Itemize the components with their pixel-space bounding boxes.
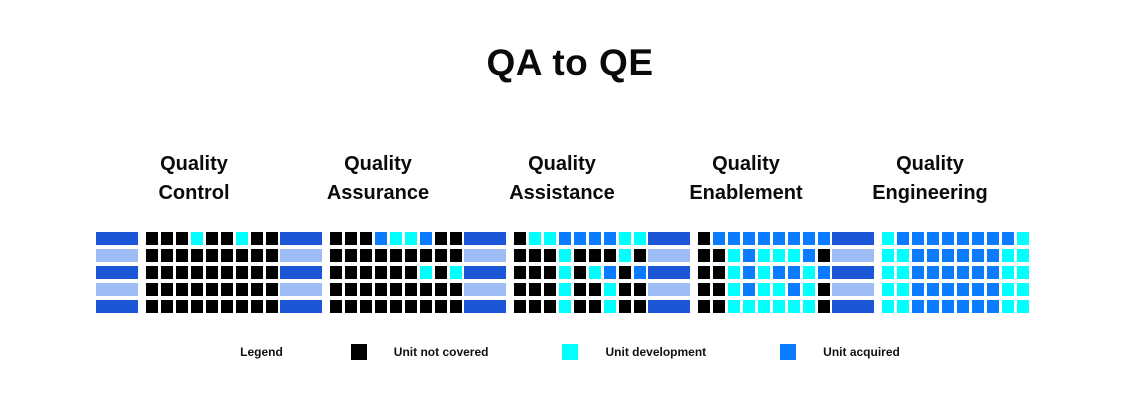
- unit-cell-black: [405, 249, 417, 262]
- unit-cell-blue: [574, 232, 586, 245]
- unit-grid: [832, 232, 1029, 313]
- unit-cell-blue: [912, 300, 924, 313]
- unit-cell-cyan: [1002, 266, 1014, 279]
- unit-cell-blue: [957, 266, 969, 279]
- unit-cell-black: [713, 249, 725, 262]
- unit-cell-cyan: [405, 232, 417, 245]
- row-label-bar: [832, 266, 874, 279]
- unit-cell-cyan: [882, 232, 894, 245]
- unit-cell-cyan: [559, 266, 571, 279]
- unit-cell-blue: [420, 232, 432, 245]
- unit-cell-blue: [972, 249, 984, 262]
- unit-cell-black: [390, 283, 402, 296]
- unit-cell-cyan: [604, 283, 616, 296]
- unit-cell-black: [330, 283, 342, 296]
- unit-cell-black: [450, 249, 462, 262]
- unit-cell-black: [574, 266, 586, 279]
- unit-cell-black: [191, 249, 203, 262]
- unit-cell-black: [206, 283, 218, 296]
- column-title: Quality Control: [158, 150, 229, 212]
- row-label-bar: [280, 249, 322, 262]
- unit-grid-row: [96, 232, 293, 245]
- unit-cell-black: [574, 249, 586, 262]
- unit-grid-row: [832, 266, 1029, 279]
- unit-grid-row: [464, 300, 661, 313]
- unit-cell-cyan: [390, 232, 402, 245]
- unit-cell-cyan: [758, 283, 770, 296]
- unit-cell-black: [251, 249, 263, 262]
- row-label-bar: [648, 266, 690, 279]
- unit-cell-blue: [743, 232, 755, 245]
- legend-swatch-cyan: [562, 344, 578, 360]
- unit-cell-black: [435, 300, 447, 313]
- unit-cell-blue: [773, 266, 785, 279]
- unit-cell-cyan: [773, 283, 785, 296]
- unit-grid-row: [96, 266, 293, 279]
- row-label-bar: [96, 249, 138, 262]
- unit-cell-cyan: [882, 300, 894, 313]
- maturity-column: Quality Assurance: [292, 150, 464, 313]
- unit-cell-black: [330, 249, 342, 262]
- unit-cell-blue: [589, 232, 601, 245]
- unit-cell-black: [221, 283, 233, 296]
- unit-cell-blue: [559, 232, 571, 245]
- page-title: QA to QE: [0, 42, 1140, 84]
- legend-items: Unit not coveredUnit developmentUnit acq…: [351, 344, 900, 360]
- row-label-bar: [96, 300, 138, 313]
- unit-cell-black: [544, 266, 556, 279]
- row-label-bar: [96, 232, 138, 245]
- row-label-bar: [648, 300, 690, 313]
- unit-cell-black: [713, 283, 725, 296]
- unit-cell-cyan: [728, 266, 740, 279]
- unit-cell-cyan: [559, 249, 571, 262]
- unit-cell-cyan: [897, 283, 909, 296]
- unit-cell-black: [450, 283, 462, 296]
- unit-cell-blue: [957, 249, 969, 262]
- unit-cell-black: [266, 283, 278, 296]
- unit-cell-black: [435, 249, 447, 262]
- unit-cell-black: [390, 266, 402, 279]
- unit-cell-blue: [927, 300, 939, 313]
- unit-cell-black: [161, 249, 173, 262]
- unit-cell-cyan: [803, 266, 815, 279]
- unit-cell-black: [698, 300, 710, 313]
- unit-cell-black: [529, 300, 541, 313]
- unit-cell-black: [574, 283, 586, 296]
- unit-cell-cyan: [589, 266, 601, 279]
- unit-cell-black: [405, 300, 417, 313]
- unit-cell-black: [713, 300, 725, 313]
- row-label-bar: [648, 249, 690, 262]
- legend: Legend Unit not coveredUnit developmentU…: [0, 344, 1140, 360]
- unit-cell-blue: [987, 232, 999, 245]
- unit-cell-cyan: [1017, 249, 1029, 262]
- unit-cell-black: [529, 266, 541, 279]
- unit-cell-black: [514, 266, 526, 279]
- unit-cell-cyan: [420, 266, 432, 279]
- unit-cell-blue: [897, 232, 909, 245]
- unit-cell-black: [146, 232, 158, 245]
- row-label-bar: [648, 232, 690, 245]
- unit-cell-black: [360, 283, 372, 296]
- unit-cell-cyan: [897, 300, 909, 313]
- unit-cell-cyan: [1017, 266, 1029, 279]
- row-label-bar: [464, 300, 506, 313]
- unit-cell-blue: [743, 249, 755, 262]
- unit-cell-blue: [713, 232, 725, 245]
- unit-cell-cyan: [803, 300, 815, 313]
- unit-cell-black: [589, 283, 601, 296]
- unit-cell-black: [206, 266, 218, 279]
- unit-cell-black: [619, 266, 631, 279]
- unit-cell-blue: [788, 266, 800, 279]
- unit-cell-cyan: [236, 232, 248, 245]
- column-title: Quality Enablement: [689, 150, 802, 212]
- unit-cell-black: [360, 249, 372, 262]
- unit-cell-cyan: [897, 249, 909, 262]
- unit-cell-black: [450, 232, 462, 245]
- unit-cell-blue: [987, 266, 999, 279]
- row-label-bar: [464, 232, 506, 245]
- unit-grid-row: [648, 249, 845, 262]
- unit-cell-blue: [728, 232, 740, 245]
- unit-cell-blue: [803, 249, 815, 262]
- unit-grid-row: [280, 266, 477, 279]
- unit-grid-row: [832, 300, 1029, 313]
- row-label-bar: [832, 300, 874, 313]
- row-label-bar: [96, 266, 138, 279]
- legend-swatch-blue: [780, 344, 796, 360]
- unit-cell-cyan: [634, 232, 646, 245]
- unit-cell-black: [146, 266, 158, 279]
- unit-grid-row: [648, 283, 845, 296]
- unit-cell-black: [405, 283, 417, 296]
- unit-cell-black: [206, 300, 218, 313]
- unit-cell-blue: [972, 283, 984, 296]
- unit-cell-black: [713, 266, 725, 279]
- unit-cell-blue: [604, 232, 616, 245]
- unit-grid-row: [648, 300, 845, 313]
- unit-cell-blue: [912, 249, 924, 262]
- unit-cell-black: [698, 283, 710, 296]
- unit-grid-row: [832, 249, 1029, 262]
- unit-cell-cyan: [1017, 283, 1029, 296]
- unit-cell-cyan: [758, 249, 770, 262]
- unit-cell-cyan: [773, 249, 785, 262]
- unit-cell-cyan: [559, 300, 571, 313]
- unit-cell-black: [221, 266, 233, 279]
- unit-cell-blue: [972, 300, 984, 313]
- unit-grid-row: [464, 283, 661, 296]
- column-title: Quality Engineering: [872, 150, 988, 212]
- unit-cell-black: [345, 300, 357, 313]
- unit-cell-black: [236, 300, 248, 313]
- maturity-column: Quality Enablement: [660, 150, 832, 313]
- row-label-bar: [464, 249, 506, 262]
- unit-cell-black: [345, 266, 357, 279]
- unit-cell-black: [435, 283, 447, 296]
- unit-grid-row: [648, 232, 845, 245]
- unit-grid-row: [96, 283, 293, 296]
- unit-cell-black: [390, 300, 402, 313]
- unit-cell-black: [345, 283, 357, 296]
- unit-cell-black: [435, 232, 447, 245]
- unit-cell-black: [375, 300, 387, 313]
- unit-grid-row: [464, 266, 661, 279]
- unit-cell-black: [236, 266, 248, 279]
- unit-cell-black: [375, 249, 387, 262]
- unit-cell-cyan: [619, 232, 631, 245]
- unit-cell-black: [529, 249, 541, 262]
- unit-cell-black: [634, 249, 646, 262]
- unit-grid-row: [832, 283, 1029, 296]
- unit-cell-black: [176, 283, 188, 296]
- unit-cell-black: [360, 266, 372, 279]
- unit-cell-blue: [788, 232, 800, 245]
- unit-cell-black: [206, 249, 218, 262]
- unit-grid-row: [648, 266, 845, 279]
- unit-cell-black: [544, 283, 556, 296]
- unit-cell-cyan: [191, 232, 203, 245]
- maturity-columns: Quality ControlQuality AssuranceQuality …: [108, 150, 1016, 313]
- row-label-bar: [280, 283, 322, 296]
- unit-cell-black: [360, 300, 372, 313]
- unit-cell-black: [405, 266, 417, 279]
- unit-cell-black: [420, 249, 432, 262]
- unit-cell-blue: [788, 283, 800, 296]
- unit-cell-black: [589, 300, 601, 313]
- unit-cell-black: [251, 266, 263, 279]
- unit-cell-blue: [743, 283, 755, 296]
- maturity-column: Quality Engineering: [844, 150, 1016, 313]
- unit-cell-black: [191, 300, 203, 313]
- unit-cell-cyan: [1002, 283, 1014, 296]
- unit-cell-cyan: [544, 232, 556, 245]
- unit-cell-blue: [818, 266, 830, 279]
- unit-grid-row: [96, 300, 293, 313]
- row-label-bar: [280, 300, 322, 313]
- legend-label: Unit development: [605, 345, 706, 359]
- unit-cell-blue: [912, 232, 924, 245]
- unit-grid-row: [96, 249, 293, 262]
- unit-cell-blue: [803, 232, 815, 245]
- unit-cell-black: [251, 283, 263, 296]
- unit-cell-black: [514, 300, 526, 313]
- unit-cell-black: [236, 249, 248, 262]
- row-label-bar: [648, 283, 690, 296]
- unit-cell-cyan: [728, 300, 740, 313]
- unit-cell-black: [266, 266, 278, 279]
- unit-cell-cyan: [728, 249, 740, 262]
- unit-cell-cyan: [803, 283, 815, 296]
- unit-cell-cyan: [882, 249, 894, 262]
- unit-cell-black: [146, 300, 158, 313]
- unit-cell-black: [191, 266, 203, 279]
- unit-cell-black: [251, 232, 263, 245]
- unit-cell-black: [266, 232, 278, 245]
- unit-cell-cyan: [559, 283, 571, 296]
- unit-cell-blue: [927, 232, 939, 245]
- unit-cell-blue: [634, 266, 646, 279]
- legend-swatch-black: [351, 344, 367, 360]
- unit-cell-black: [345, 232, 357, 245]
- unit-cell-blue: [957, 232, 969, 245]
- unit-cell-blue: [927, 283, 939, 296]
- unit-cell-black: [514, 283, 526, 296]
- unit-cell-cyan: [1017, 300, 1029, 313]
- unit-cell-cyan: [882, 283, 894, 296]
- unit-cell-blue: [942, 266, 954, 279]
- unit-cell-black: [146, 249, 158, 262]
- unit-cell-black: [221, 232, 233, 245]
- legend-item: Unit not covered: [351, 344, 489, 360]
- legend-title: Legend: [240, 345, 283, 359]
- unit-cell-blue: [942, 283, 954, 296]
- unit-cell-blue: [758, 232, 770, 245]
- unit-cell-black: [251, 300, 263, 313]
- unit-cell-black: [176, 249, 188, 262]
- maturity-heatmap-page: QA to QE Quality ControlQuality Assuranc…: [0, 0, 1140, 418]
- unit-cell-cyan: [897, 266, 909, 279]
- unit-cell-cyan: [1002, 300, 1014, 313]
- unit-cell-cyan: [604, 300, 616, 313]
- unit-cell-blue: [927, 249, 939, 262]
- unit-cell-black: [698, 232, 710, 245]
- unit-cell-cyan: [773, 300, 785, 313]
- unit-cell-black: [266, 249, 278, 262]
- unit-grid-row: [280, 300, 477, 313]
- column-title: Quality Assurance: [327, 150, 429, 212]
- row-label-bar: [832, 283, 874, 296]
- unit-cell-black: [818, 283, 830, 296]
- row-label-bar: [832, 249, 874, 262]
- row-label-bar: [280, 266, 322, 279]
- unit-cell-blue: [773, 232, 785, 245]
- row-label-bar: [464, 283, 506, 296]
- unit-cell-cyan: [619, 249, 631, 262]
- unit-cell-black: [514, 232, 526, 245]
- unit-grid-row: [280, 283, 477, 296]
- legend-label: Unit not covered: [394, 345, 489, 359]
- unit-cell-black: [390, 249, 402, 262]
- unit-cell-black: [161, 283, 173, 296]
- unit-cell-blue: [987, 300, 999, 313]
- unit-cell-black: [634, 300, 646, 313]
- unit-cell-blue: [942, 249, 954, 262]
- unit-cell-black: [266, 300, 278, 313]
- unit-cell-black: [161, 232, 173, 245]
- unit-cell-blue: [743, 266, 755, 279]
- unit-cell-blue: [987, 283, 999, 296]
- unit-cell-black: [221, 300, 233, 313]
- unit-grid-row: [280, 249, 477, 262]
- unit-grid-row: [464, 232, 661, 245]
- unit-cell-black: [420, 283, 432, 296]
- unit-cell-black: [330, 232, 342, 245]
- unit-cell-black: [345, 249, 357, 262]
- unit-cell-blue: [818, 232, 830, 245]
- unit-cell-cyan: [743, 300, 755, 313]
- unit-cell-black: [544, 300, 556, 313]
- unit-cell-blue: [972, 232, 984, 245]
- unit-cell-cyan: [882, 266, 894, 279]
- unit-grid: [648, 232, 845, 313]
- unit-cell-black: [619, 283, 631, 296]
- unit-cell-black: [221, 249, 233, 262]
- unit-cell-black: [698, 266, 710, 279]
- unit-grid-row: [280, 232, 477, 245]
- unit-cell-black: [330, 300, 342, 313]
- unit-cell-cyan: [758, 266, 770, 279]
- unit-cell-blue: [375, 232, 387, 245]
- unit-cell-cyan: [758, 300, 770, 313]
- column-title: Quality Assistance: [509, 150, 615, 212]
- unit-cell-black: [420, 300, 432, 313]
- unit-cell-cyan: [788, 300, 800, 313]
- unit-cell-blue: [972, 266, 984, 279]
- unit-cell-black: [161, 300, 173, 313]
- row-label-bar: [464, 266, 506, 279]
- unit-cell-black: [818, 249, 830, 262]
- unit-cell-black: [435, 266, 447, 279]
- unit-cell-black: [450, 300, 462, 313]
- legend-label: Unit acquired: [823, 345, 900, 359]
- unit-cell-black: [375, 266, 387, 279]
- unit-cell-black: [619, 300, 631, 313]
- unit-cell-blue: [957, 300, 969, 313]
- unit-cell-cyan: [1002, 249, 1014, 262]
- unit-cell-cyan: [1017, 232, 1029, 245]
- unit-cell-blue: [912, 283, 924, 296]
- unit-cell-black: [529, 283, 541, 296]
- unit-grid: [280, 232, 477, 313]
- maturity-column: Quality Assistance: [476, 150, 648, 313]
- unit-cell-black: [360, 232, 372, 245]
- unit-cell-black: [375, 283, 387, 296]
- unit-cell-black: [698, 249, 710, 262]
- maturity-column: Quality Control: [108, 150, 280, 313]
- unit-cell-black: [176, 232, 188, 245]
- unit-cell-black: [544, 249, 556, 262]
- unit-cell-black: [574, 300, 586, 313]
- unit-cell-black: [191, 283, 203, 296]
- unit-cell-blue: [604, 266, 616, 279]
- unit-cell-blue: [942, 232, 954, 245]
- unit-cell-black: [818, 300, 830, 313]
- unit-grid: [464, 232, 661, 313]
- legend-item: Unit acquired: [780, 344, 900, 360]
- unit-cell-blue: [1002, 232, 1014, 245]
- unit-cell-black: [161, 266, 173, 279]
- unit-cell-black: [604, 249, 616, 262]
- unit-cell-cyan: [450, 266, 462, 279]
- unit-cell-black: [514, 249, 526, 262]
- unit-cell-cyan: [788, 249, 800, 262]
- unit-cell-black: [236, 283, 248, 296]
- legend-item: Unit development: [562, 344, 706, 360]
- unit-cell-black: [176, 300, 188, 313]
- unit-cell-black: [589, 249, 601, 262]
- unit-cell-black: [206, 232, 218, 245]
- unit-grid: [96, 232, 293, 313]
- unit-grid-row: [832, 232, 1029, 245]
- unit-cell-blue: [927, 266, 939, 279]
- unit-cell-blue: [942, 300, 954, 313]
- unit-cell-cyan: [728, 283, 740, 296]
- unit-cell-blue: [987, 249, 999, 262]
- row-label-bar: [280, 232, 322, 245]
